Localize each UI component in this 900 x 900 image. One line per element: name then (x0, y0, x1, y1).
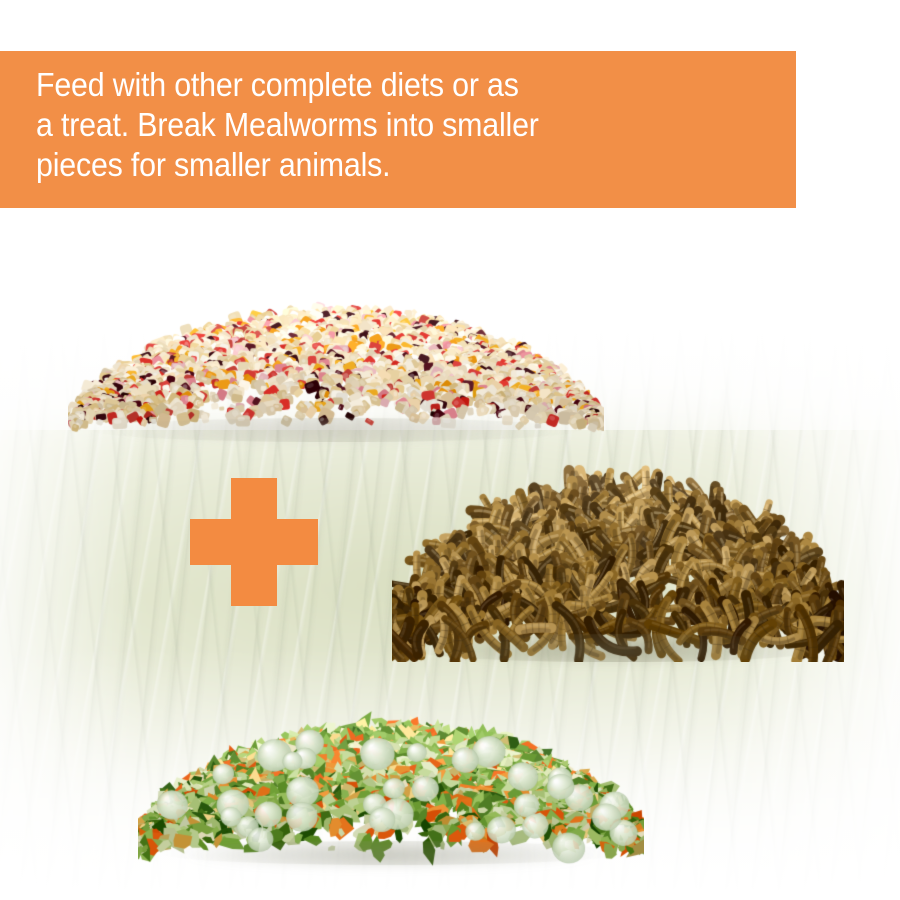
instruction-banner-text: Feed with other complete diets or as a t… (36, 65, 735, 185)
fruit-mix-pile (68, 262, 604, 442)
mealworm-pile (392, 430, 844, 662)
plus-icon-vertical-bar (231, 478, 277, 606)
fruit-mix-canvas (68, 262, 604, 442)
plus-icon (190, 478, 318, 606)
product-image-canvas: Feed with other complete diets or as a t… (0, 0, 900, 900)
vegetable-mix-canvas (138, 655, 644, 867)
vegetable-mix-pile (138, 655, 644, 867)
mealworm-canvas (392, 430, 844, 662)
vegetable-pile-shadow (178, 845, 603, 871)
instruction-banner: Feed with other complete diets or as a t… (0, 51, 796, 208)
